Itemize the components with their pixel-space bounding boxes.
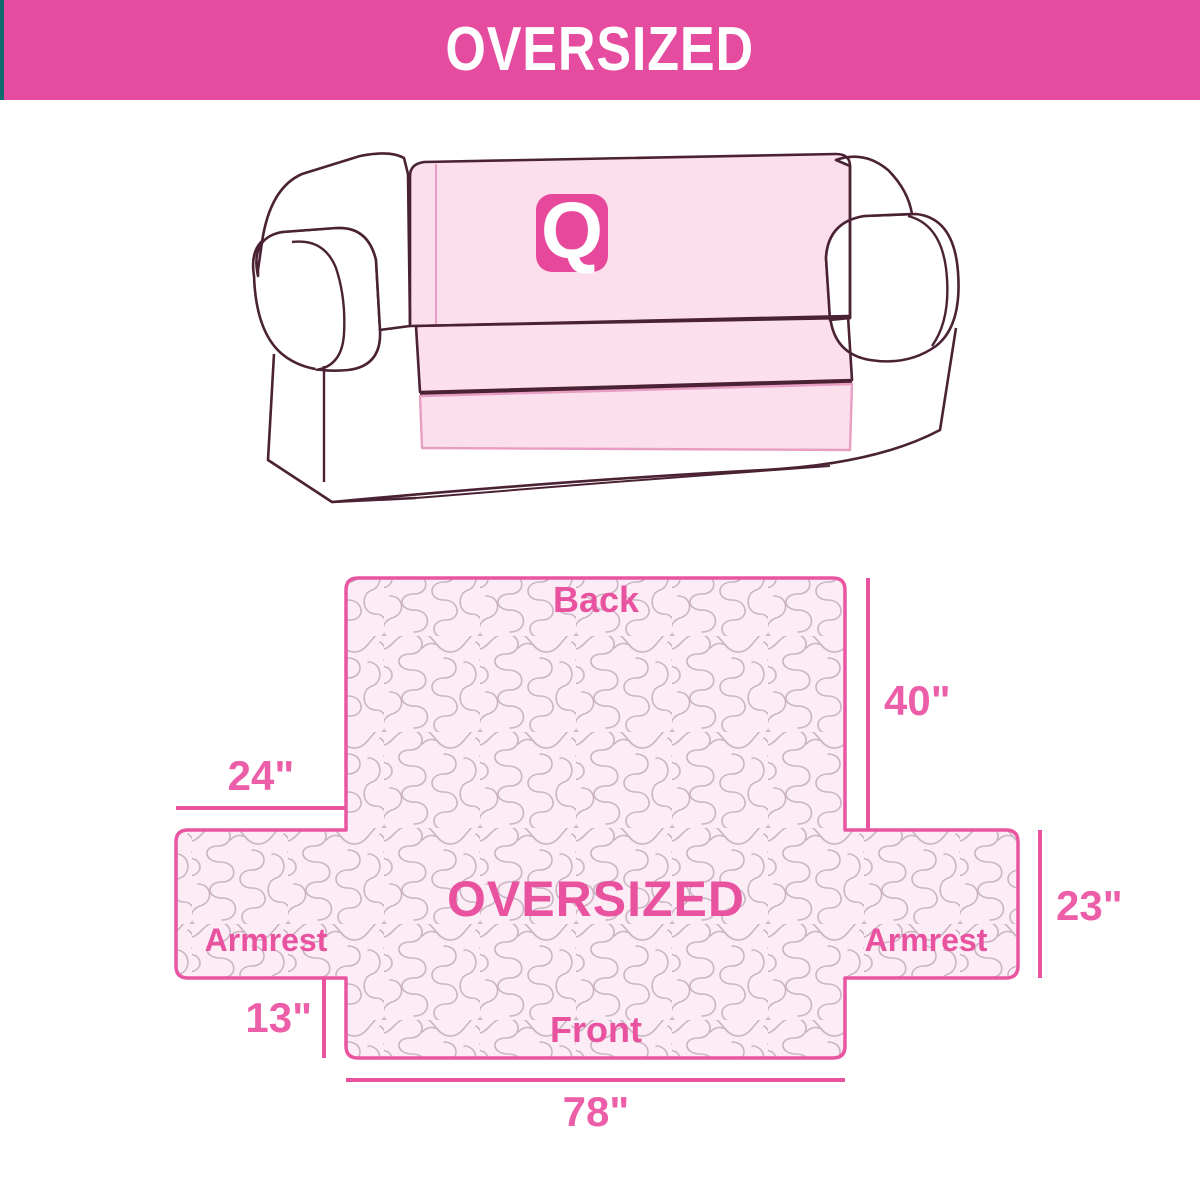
dimension-total-width: 78" (346, 1080, 845, 1135)
dimension-front-height: 13" (245, 978, 324, 1058)
dimension-armrest-height-value: 23" (1056, 882, 1123, 929)
dimension-total-width-value: 78" (563, 1088, 630, 1135)
label-armrest-left: Armrest (205, 922, 328, 958)
dimension-back-height-value: 40" (884, 677, 951, 724)
sofa-base-skirt-line (416, 466, 830, 498)
header-edge-strip (0, 0, 4, 100)
cover-diagram: Back Front Armrest Armrest OVERSIZED 40"… (0, 540, 1200, 1140)
diagram-center-title: OVERSIZED (447, 871, 745, 927)
cover-shape-fill (176, 578, 1018, 1058)
header-banner: OVERSIZED (0, 0, 1200, 100)
cover-shape (176, 578, 1018, 1058)
size-chart-page: OVERSIZED (0, 0, 1200, 1200)
sofa-illustration: Q (240, 130, 980, 510)
label-back: Back (553, 579, 640, 620)
label-front: Front (550, 1009, 642, 1050)
dimension-armrest-width-value: 24" (228, 752, 295, 799)
dimension-armrest-height: 23" (1040, 830, 1123, 978)
sofa-base-left (268, 354, 416, 502)
page-title: OVERSIZED (446, 19, 755, 81)
dimension-front-height-value: 13" (245, 994, 312, 1041)
dimension-armrest-width: 24" (176, 752, 346, 808)
brand-badge-letter: Q (541, 186, 603, 275)
brand-badge: Q (536, 186, 608, 275)
label-armrest-right: Armrest (865, 922, 988, 958)
sofa-backrest-panel (410, 154, 850, 326)
dimension-back-height: 40" (868, 578, 951, 830)
